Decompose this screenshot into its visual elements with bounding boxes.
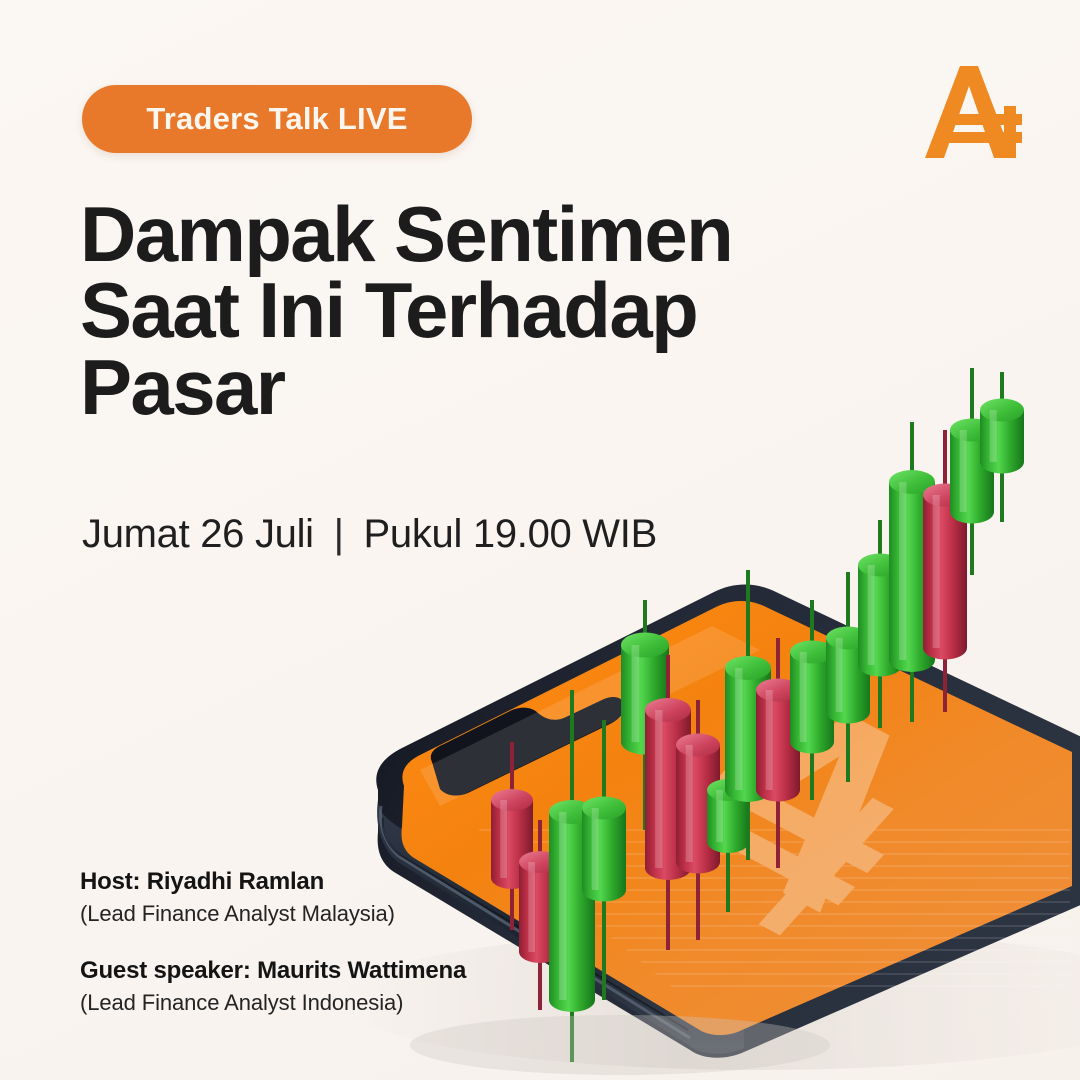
poster-canvas: Traders Talk LIVE Dampak Sentimen Saat I… [0,0,1080,1080]
host-name: Host: Riyadhi Ramlan [80,866,466,897]
guest-role: (Lead Finance Analyst Indonesia) [80,988,466,1018]
speaker-credits: Host: Riyadhi Ramlan (Lead Finance Analy… [80,866,466,1018]
host-role: (Lead Finance Analyst Malaysia) [80,899,466,929]
guest-credit: Guest speaker: Maurits Wattimena (Lead F… [80,955,466,1018]
guest-name: Guest speaker: Maurits Wattimena [80,955,466,986]
host-credit: Host: Riyadhi Ramlan (Lead Finance Analy… [80,866,466,929]
